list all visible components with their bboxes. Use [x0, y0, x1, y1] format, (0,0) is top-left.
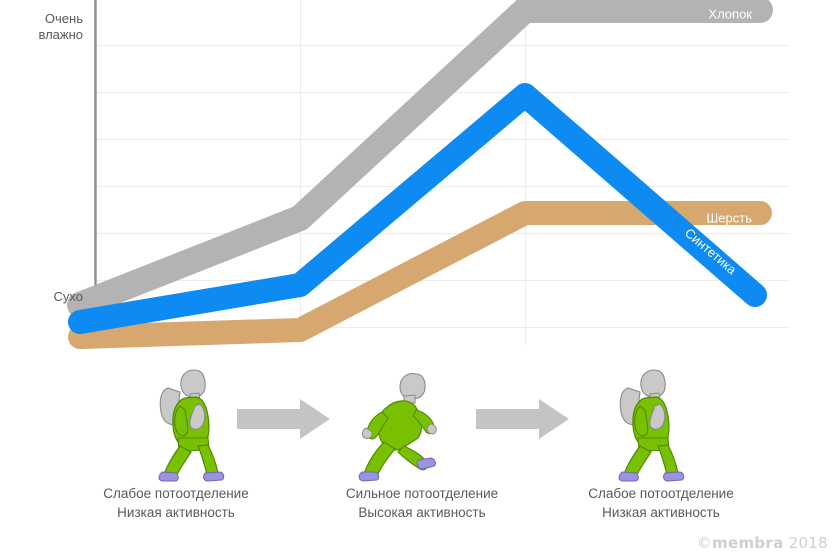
- stage-caption-3: Слабое потоотделение Низкая активность: [541, 484, 781, 522]
- walking-person-icon: [159, 370, 224, 481]
- stage-caption-1: Слабое потоотделение Низкая активность: [56, 484, 296, 522]
- caption-line-1: Сильное потоотделение: [302, 484, 542, 503]
- series-synthetic: [80, 95, 755, 322]
- caption-line-1: Слабое потоотделение: [56, 484, 296, 503]
- walking-person-icon: [619, 370, 684, 481]
- caption-line-1: Слабое потоотделение: [541, 484, 781, 503]
- caption-line-2: Низкая активность: [56, 503, 296, 522]
- series-label-cotton: Хлопок: [708, 6, 752, 21]
- copyright-symbol: ©: [697, 534, 712, 552]
- y-axis-label-top: Очень влажно: [0, 11, 83, 43]
- caption-line-2: Низкая активность: [541, 503, 781, 522]
- running-person-icon: [359, 374, 436, 481]
- y-axis-label-bottom: Сухо: [0, 289, 83, 305]
- brand-name: membra: [712, 534, 784, 552]
- series-label-wool: Шерсть: [706, 210, 752, 225]
- right-arrow-icon: [476, 399, 569, 439]
- chart-and-figures-canvas: Хлопок Шерсть Синтетика: [0, 0, 840, 560]
- stage-caption-2: Сильное потоотделение Высокая активность: [302, 484, 542, 522]
- caption-line-2: Высокая активность: [302, 503, 542, 522]
- watermark: ©membra 2018: [697, 534, 828, 552]
- infographic-root: Хлопок Шерсть Синтетика: [0, 0, 840, 560]
- right-arrow-icon: [237, 399, 330, 439]
- watermark-year: 2018: [789, 534, 828, 552]
